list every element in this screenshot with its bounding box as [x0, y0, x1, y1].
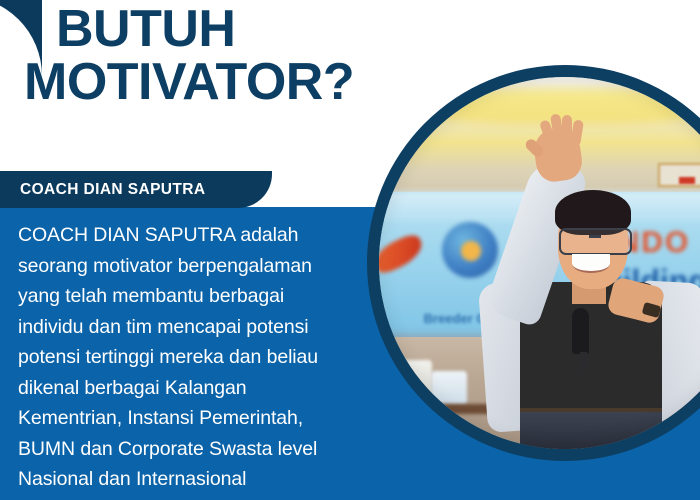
eyeglasses-icon: [559, 228, 632, 255]
headline-line-2: MOTIVATOR?: [24, 57, 354, 108]
microphone-icon: [572, 308, 589, 354]
name-banner: COACH DIAN SAPUTRA: [0, 171, 272, 208]
headline-line-1: BUTUH: [56, 4, 354, 55]
page-title: BUTUH MOTIVATOR?: [24, 4, 354, 109]
speaker-figure: [379, 77, 700, 449]
biography-paragraph: COACH DIAN SAPUTRA adalah seorang motiva…: [18, 220, 354, 495]
eyeglasses-bridge: [589, 235, 601, 238]
coach-name-label: COACH DIAN SAPUTRA: [0, 181, 205, 199]
speaker-photo: CINDO Building Breeder Gathering Buildin…: [379, 77, 700, 449]
microphone-stem: [580, 352, 587, 374]
speaker-smile: [572, 254, 609, 273]
poster-canvas: BUTUH MOTIVATOR? CINDO Building Breeder …: [0, 0, 700, 500]
title-wedge-decoration: [398, 96, 432, 130]
speaker-jeans: [520, 412, 661, 449]
